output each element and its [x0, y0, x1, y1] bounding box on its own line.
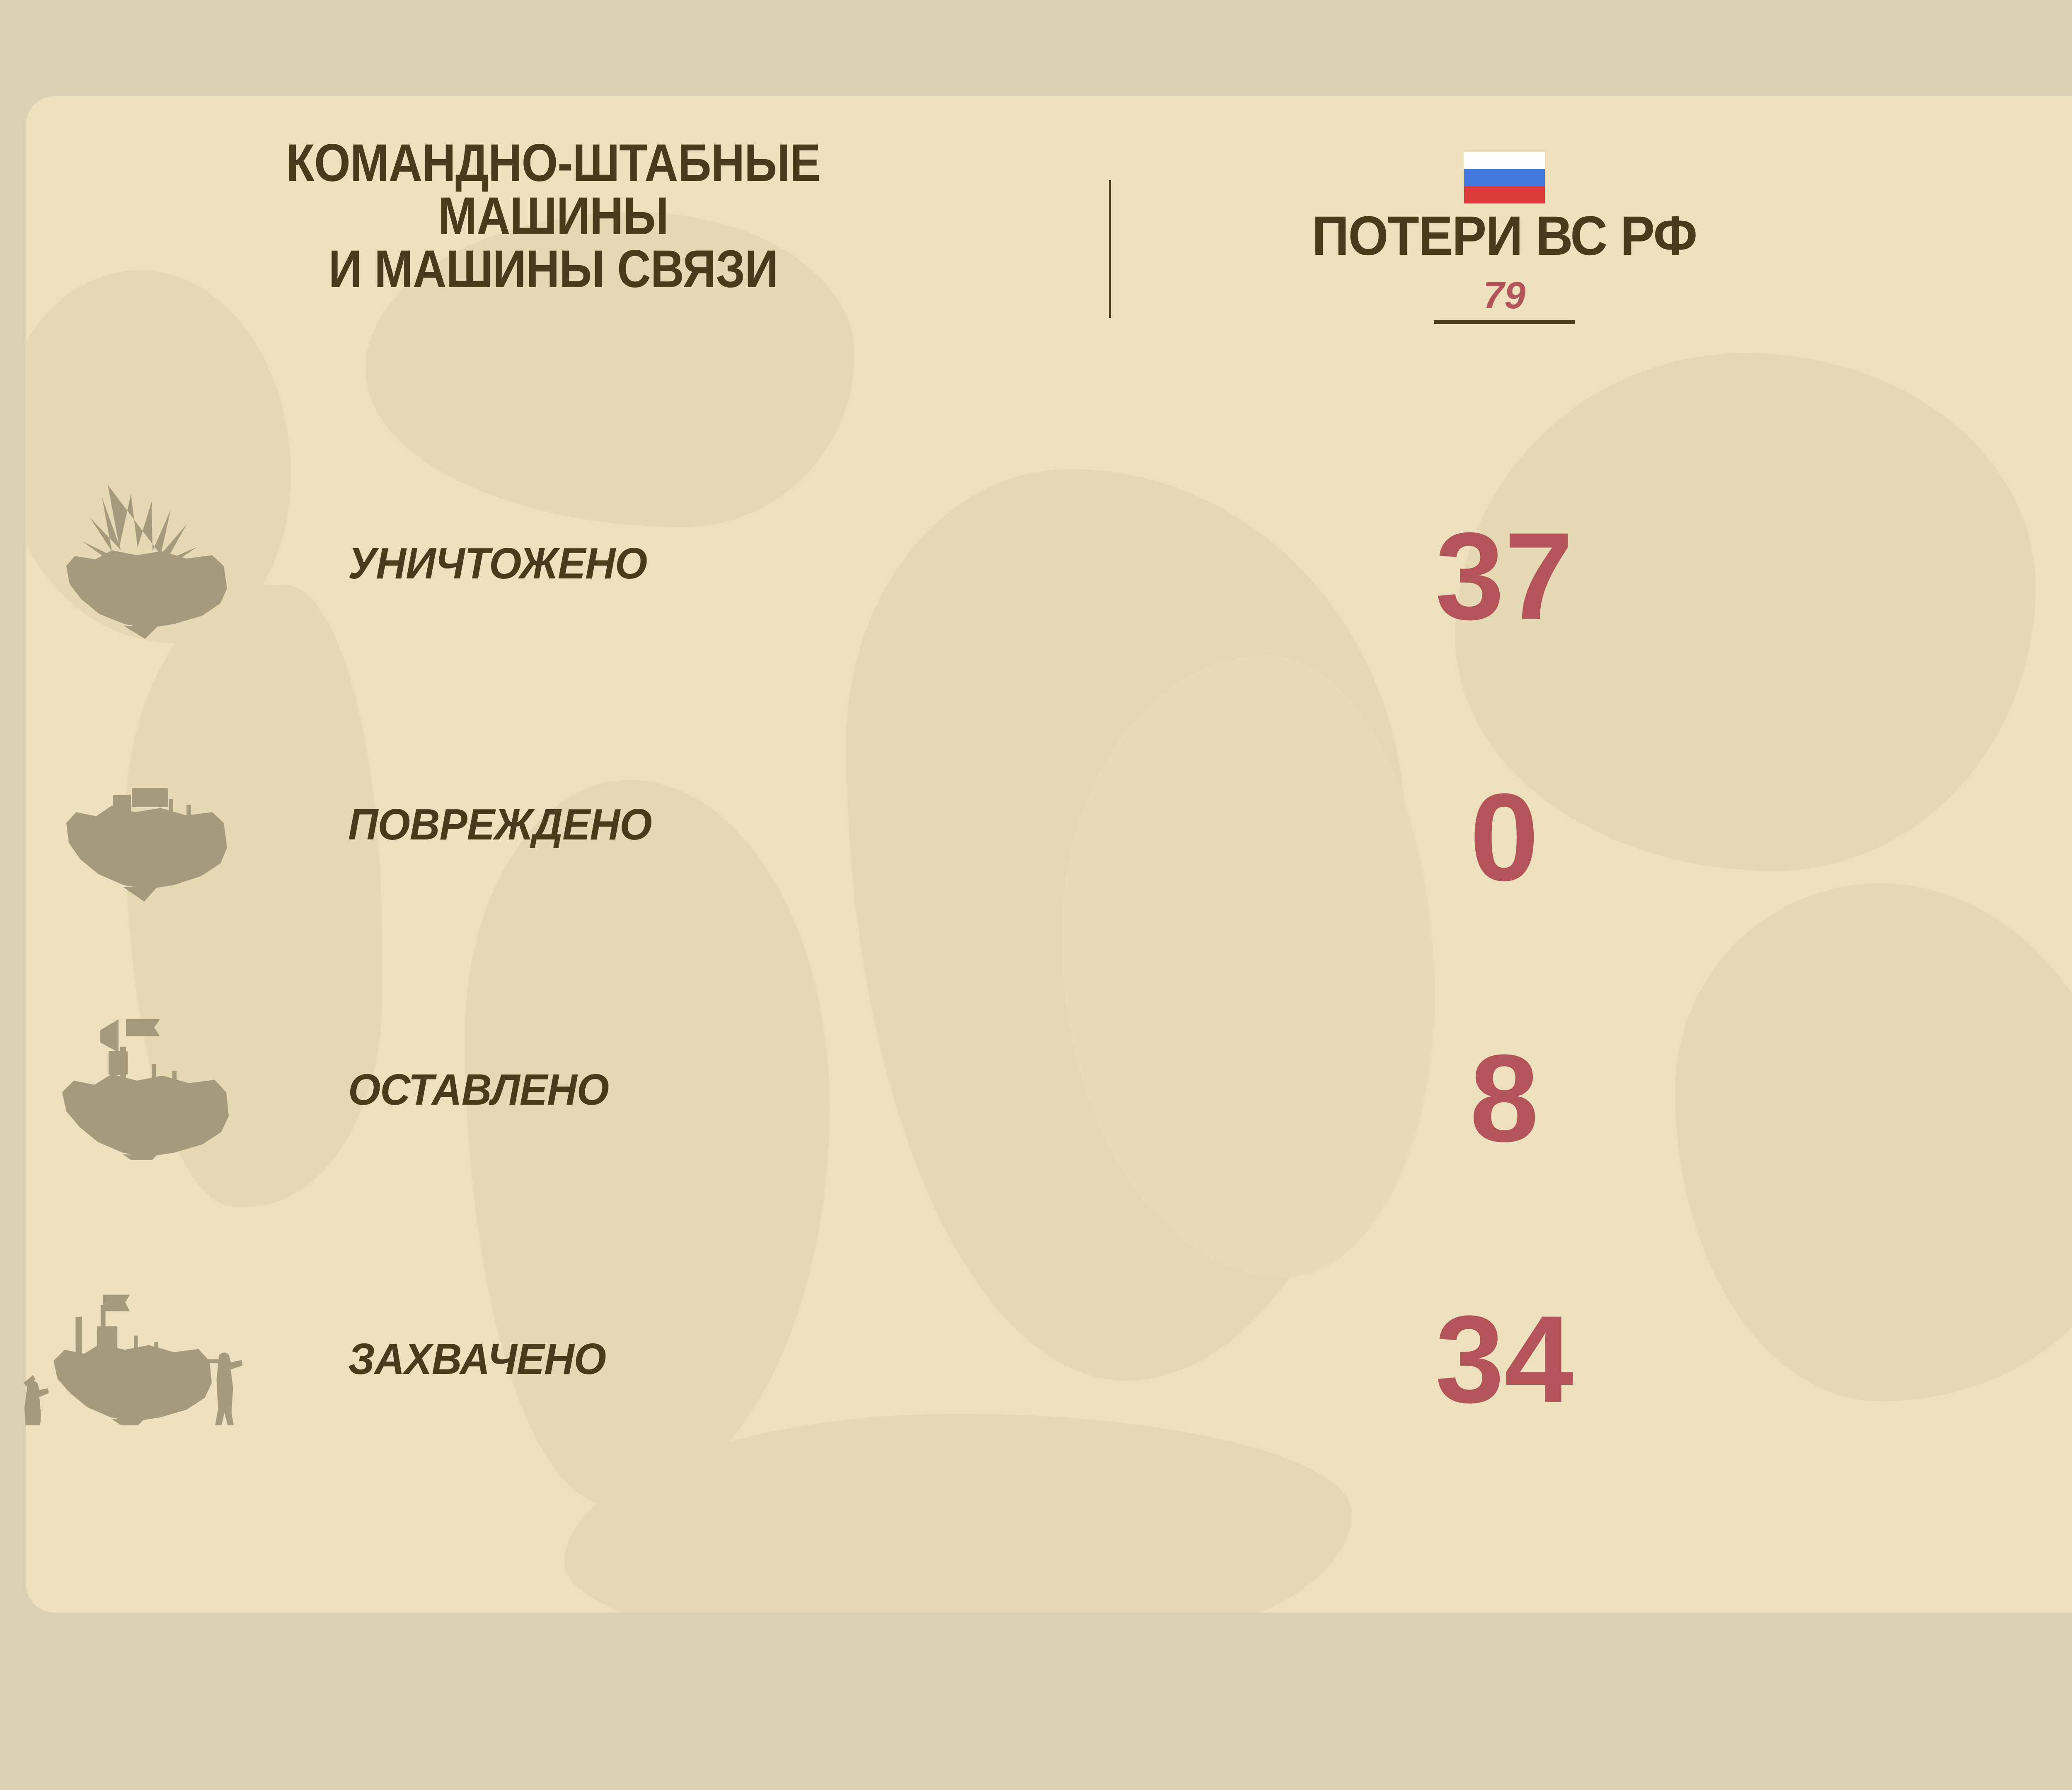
russia-flag-icon: [1464, 152, 1545, 203]
abandoned-vehicle-icon: [50, 1003, 282, 1160]
exploding-vehicle-icon: [50, 485, 282, 642]
page-title-line-1: КОМАНДНО-ШТАБНЫЕ: [110, 137, 996, 190]
map-watermark: [465, 780, 830, 1505]
row-value-ukraine-destroyed: 0: [2031, 514, 2072, 638]
damaged-vehicle-icon: [50, 750, 282, 907]
row-label-destroyed: УНИЧТОЖЕНО: [348, 539, 647, 589]
row-value-ukraine-abandoned: 0: [2031, 1036, 2072, 1160]
page-title-line-2: МАШИНЫ: [110, 190, 996, 243]
page-title: КОМАНДНО-ШТАБНЫЕ МАШИНЫ И МАШИНЫ СВЯЗИ: [110, 137, 996, 296]
row-value-russia-abandoned: 8: [1227, 1036, 1782, 1160]
captured-vehicle-icon: [8, 1268, 307, 1425]
column-total-russia: 79: [1111, 276, 1898, 314]
row-value-ukraine-damaged: 0: [2031, 775, 2072, 899]
column-title-ukraine: ПОТЕРИ ВСУ: [1939, 198, 2072, 254]
page-title-line-3: И МАШИНЫ СВЯЗИ: [110, 243, 996, 296]
total-underline-russia: [1434, 320, 1575, 324]
column-header-ukraine: ПОТЕРИ ВСУ 2: [1915, 152, 2072, 314]
row-label-damaged: ПОВРЕЖДЕНО: [348, 800, 652, 850]
row-value-russia-damaged: 0: [1227, 775, 1782, 899]
row-label-abandoned: ОСТАВЛЕНО: [348, 1065, 609, 1115]
row-value-ukraine-captured: 2: [2031, 1297, 2072, 1421]
row-value-russia-destroyed: 37: [1227, 514, 1782, 638]
row-value-russia-captured: 34: [1227, 1297, 1782, 1421]
column-title-russia: ПОТЕРИ ВС РФ: [1138, 208, 1871, 264]
table-row: ЗАХВАЧЕНО 34 2: [0, 0, 2072, 0]
column-header-russia: ПОТЕРИ ВС РФ 79: [1111, 152, 1898, 324]
column-total-ukraine: 2: [1915, 266, 2072, 305]
row-label-captured: ЗАХВАЧЕНО: [348, 1334, 606, 1384]
